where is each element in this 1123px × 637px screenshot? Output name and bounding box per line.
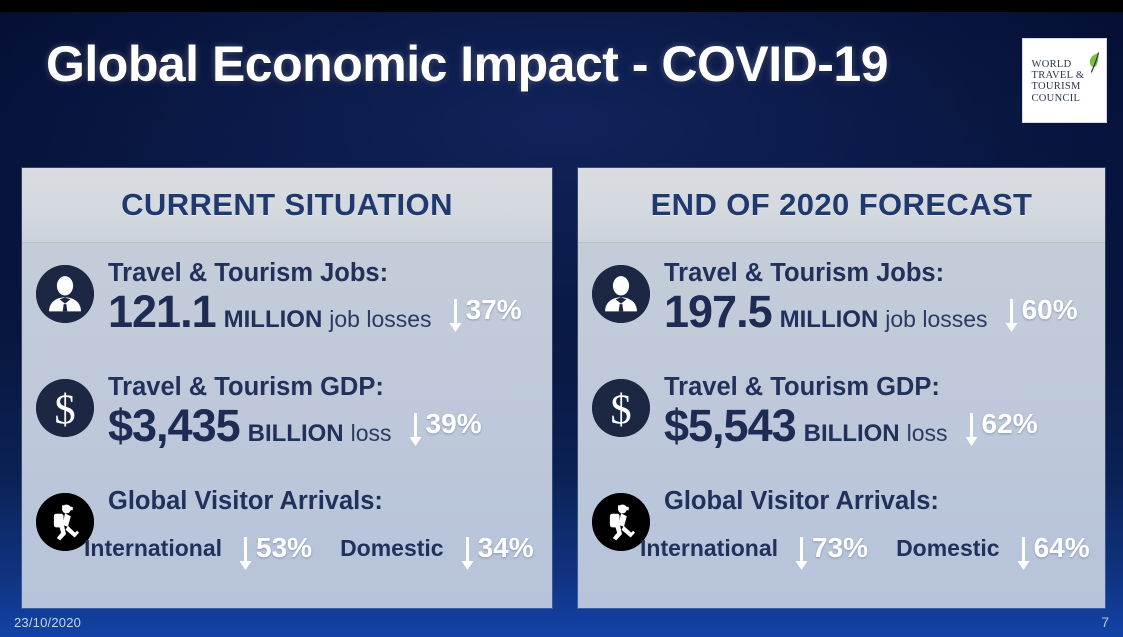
slide-footer: 23/10/2020 7 [0, 608, 1123, 637]
stat-label: Travel & Tourism Jobs: [664, 259, 944, 288]
stat-unit: MILLION [224, 308, 323, 332]
arrivals-international-percent: 53% [256, 534, 312, 562]
stat-label: Travel & Tourism GDP: [664, 373, 940, 402]
stat-row-arrivals: Global Visitor Arrivals: International 5… [22, 487, 552, 599]
stat-unit: BILLION [248, 422, 344, 446]
stat-row-jobs: Travel & Tourism Jobs: 197.5 MILLION job… [578, 259, 1105, 371]
arrow-down-icon [448, 299, 463, 333]
stat-label: Travel & Tourism GDP: [108, 373, 384, 402]
leaf-icon [1087, 52, 1100, 74]
dollar-sign-icon: $ [592, 379, 650, 437]
arrow-down-icon [1004, 299, 1019, 333]
stat-delta-percent: 37% [466, 296, 522, 324]
footer-page-number: 7 [1101, 614, 1109, 630]
stat-suffix: loss [907, 422, 948, 445]
stat-value-row: $3,435 BILLION loss 39% [108, 403, 482, 448]
stat-value: $3,435 [108, 403, 240, 448]
stat-delta-percent: 60% [1022, 296, 1078, 324]
stat-row-arrivals: Global Visitor Arrivals: International 7… [578, 487, 1105, 599]
stat-value-row: 197.5 MILLION job losses 60% [664, 289, 1078, 334]
stat-value-row: $5,543 BILLION loss 62% [664, 403, 1038, 448]
stat-label: Travel & Tourism Jobs: [108, 259, 388, 288]
arrivals-international-delta: 73% [794, 531, 868, 565]
stat-value-row: 121.1 MILLION job losses 37% [108, 289, 522, 334]
arrivals-breakdown: International 53% Domestic [84, 531, 534, 565]
footer-date: 23/10/2020 [14, 615, 81, 630]
arrivals-domestic-delta: 34% [460, 531, 534, 565]
wttc-logo-text: WORLD TRAVEL & TOURISM COUNCIL [1032, 59, 1090, 105]
stat-delta: 37% [448, 293, 522, 327]
letterbox-top-bar [0, 0, 1123, 12]
arrow-down-icon [1016, 537, 1031, 571]
panel-header: CURRENT SITUATION [22, 168, 552, 243]
stat-suffix: loss [351, 422, 392, 445]
arrivals-international-percent: 73% [812, 534, 868, 562]
arrivals-breakdown: International 73% Domestic [640, 531, 1090, 565]
stat-label: Global Visitor Arrivals: [108, 487, 383, 516]
arrow-down-icon [460, 537, 475, 571]
arrivals-international-label: International [84, 537, 222, 560]
stat-delta-percent: 62% [982, 410, 1038, 438]
arrivals-domestic-percent: 64% [1034, 534, 1090, 562]
stat-row-jobs: Travel & Tourism Jobs: 121.1 MILLION job… [22, 259, 552, 371]
arrivals-international-delta: 53% [238, 531, 312, 565]
arrivals-domestic-label: Domestic [340, 537, 444, 560]
arrivals-domestic-percent: 34% [478, 534, 534, 562]
arrow-down-icon [238, 537, 253, 571]
arrow-down-icon [964, 413, 979, 447]
stat-value: 121.1 [108, 289, 216, 334]
arrivals-international-label: International [640, 537, 778, 560]
wttc-logo: WORLD TRAVEL & TOURISM COUNCIL [1022, 38, 1107, 123]
panel-heading: CURRENT SITUATION [121, 187, 453, 223]
panel-body: Travel & Tourism Jobs: 197.5 MILLION job… [578, 243, 1105, 609]
presentation-slide: Global Economic Impact - COVID-19 WORLD … [0, 0, 1123, 637]
stat-unit: BILLION [804, 422, 900, 446]
stat-label: Global Visitor Arrivals: [664, 487, 939, 516]
businessperson-icon [592, 265, 650, 323]
stat-row-gdp: $ Travel & Tourism GDP: $5,543 BILLION l… [578, 373, 1105, 485]
svg-text:$: $ [54, 386, 75, 433]
businessperson-icon [36, 265, 94, 323]
panel-current-situation: CURRENT SITUATION Travel & Tourism Jobs:… [22, 168, 552, 608]
arrow-down-icon [408, 413, 423, 447]
page-title: Global Economic Impact - COVID-19 [46, 35, 888, 93]
stat-row-gdp: $ Travel & Tourism GDP: $3,435 BILLION l… [22, 373, 552, 485]
panel-body: Travel & Tourism Jobs: 121.1 MILLION job… [22, 243, 552, 609]
arrow-down-icon [794, 537, 809, 571]
svg-text:$: $ [610, 386, 631, 433]
stat-delta: 60% [1004, 293, 1078, 327]
dollar-sign-icon: $ [36, 379, 94, 437]
arrivals-domestic-delta: 64% [1016, 531, 1090, 565]
panel-end-of-2020-forecast: END OF 2020 FORECAST Travel & Tourism Jo… [578, 168, 1105, 608]
stat-suffix: job losses [329, 308, 431, 331]
arrivals-domestic-label: Domestic [896, 537, 1000, 560]
panel-header: END OF 2020 FORECAST [578, 168, 1105, 243]
panel-heading: END OF 2020 FORECAST [651, 187, 1033, 223]
stat-delta: 39% [408, 407, 482, 441]
stat-delta-percent: 39% [426, 410, 482, 438]
stat-value: 197.5 [664, 289, 772, 334]
stat-delta: 62% [964, 407, 1038, 441]
stat-value: $5,543 [664, 403, 796, 448]
stat-suffix: job losses [885, 308, 987, 331]
slide-header: Global Economic Impact - COVID-19 WORLD … [0, 12, 1123, 142]
stat-unit: MILLION [780, 308, 879, 332]
